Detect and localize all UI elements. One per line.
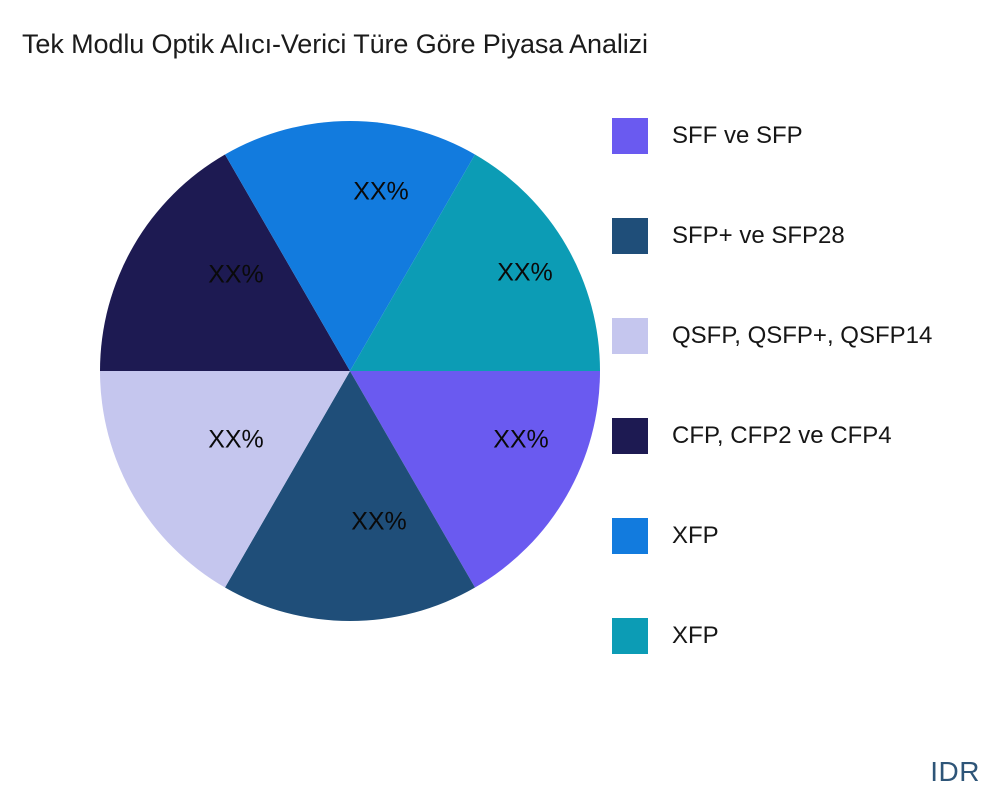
legend-item[interactable]: SFF ve SFP	[612, 100, 1000, 200]
legend-swatch	[612, 318, 648, 354]
legend-item-label: SFP+ ve SFP28	[672, 218, 845, 254]
legend-item[interactable]: SFP+ ve SFP28	[612, 200, 1000, 300]
legend-swatch	[612, 218, 648, 254]
legend-swatch	[612, 118, 648, 154]
pie-slice-label: XX%	[353, 178, 409, 206]
legend-item-label: XFP	[672, 518, 719, 554]
legend-item[interactable]: CFP, CFP2 ve CFP4	[612, 400, 1000, 500]
legend-swatch	[612, 618, 648, 654]
legend-item[interactable]: QSFP, QSFP+, QSFP14	[612, 300, 1000, 400]
pie-chart-svg: XX%XX%XX%XX%XX%XX%	[0, 0, 700, 800]
pie-slice-label: XX%	[493, 426, 549, 454]
legend-swatch	[612, 418, 648, 454]
legend-item-label: XFP	[672, 618, 719, 654]
watermark-label: IDR	[930, 756, 980, 788]
legend-swatch	[612, 518, 648, 554]
legend-item-label: QSFP, QSFP+, QSFP14	[672, 318, 932, 354]
legend-item[interactable]: XFP	[612, 600, 1000, 700]
pie-slice-group	[100, 121, 600, 621]
pie-chart: XX%XX%XX%XX%XX%XX%	[0, 0, 700, 800]
chart-canvas: Tek Modlu Optik Alıcı-Verici Türe Göre P…	[0, 0, 1000, 800]
pie-slice-label: XX%	[208, 261, 264, 289]
legend-item[interactable]: XFP	[612, 500, 1000, 600]
legend-item-label: CFP, CFP2 ve CFP4	[672, 418, 892, 454]
pie-slice-label: XX%	[351, 508, 407, 536]
pie-slice-label: XX%	[208, 426, 264, 454]
pie-slice-label: XX%	[497, 259, 553, 287]
legend: SFF ve SFPSFP+ ve SFP28QSFP, QSFP+, QSFP…	[612, 100, 1000, 700]
legend-item-label: SFF ve SFP	[672, 118, 803, 154]
